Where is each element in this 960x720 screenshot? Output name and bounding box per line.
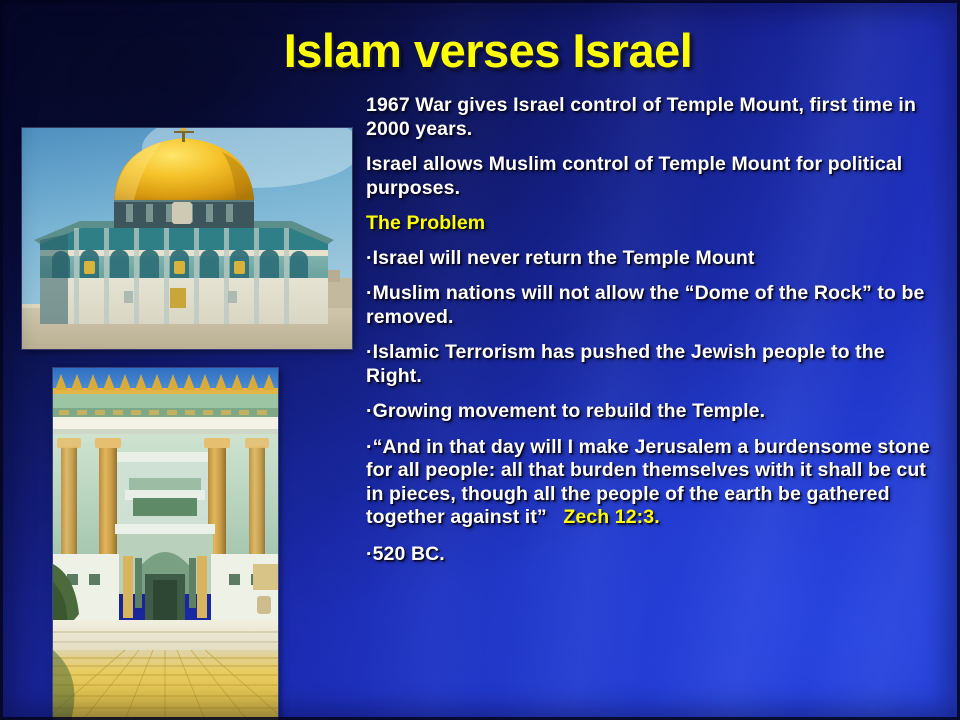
- bullet-never-return: ·Israel will never return the Temple Mou…: [366, 247, 932, 271]
- paragraph-1967-war: 1967 War gives Israel control of Temple …: [366, 94, 932, 141]
- jewish-temple-illustration: [53, 368, 278, 720]
- paragraph-israel-allows: Israel allows Muslim control of Temple M…: [366, 153, 932, 200]
- zechariah-reference: Zech 12:3.: [547, 506, 660, 528]
- dome-of-the-rock-photo: [22, 128, 352, 349]
- dome-of-the-rock-illustration: [22, 128, 352, 349]
- the-problem-heading: The Problem: [366, 212, 932, 236]
- slide-body-text: 1967 War gives Israel control of Temple …: [366, 94, 932, 578]
- bullet-rebuild-temple: ·Growing movement to rebuild the Temple.: [366, 400, 932, 424]
- slide-title: Islam verses Israel: [228, 26, 748, 75]
- presentation-slide: Islam verses Israel: [0, 0, 960, 720]
- bullet-islamic-terrorism: ·Islamic Terrorism has pushed the Jewish…: [366, 341, 932, 388]
- bullet-dome-of-the-rock: ·Muslim nations will not allow the “Dome…: [366, 282, 932, 329]
- temple-rendering: [53, 368, 278, 720]
- bullet-zechariah-quote: ·“And in that day will I make Jerusalem …: [366, 436, 932, 530]
- bullet-520-bc: ·520 BC.: [366, 543, 932, 567]
